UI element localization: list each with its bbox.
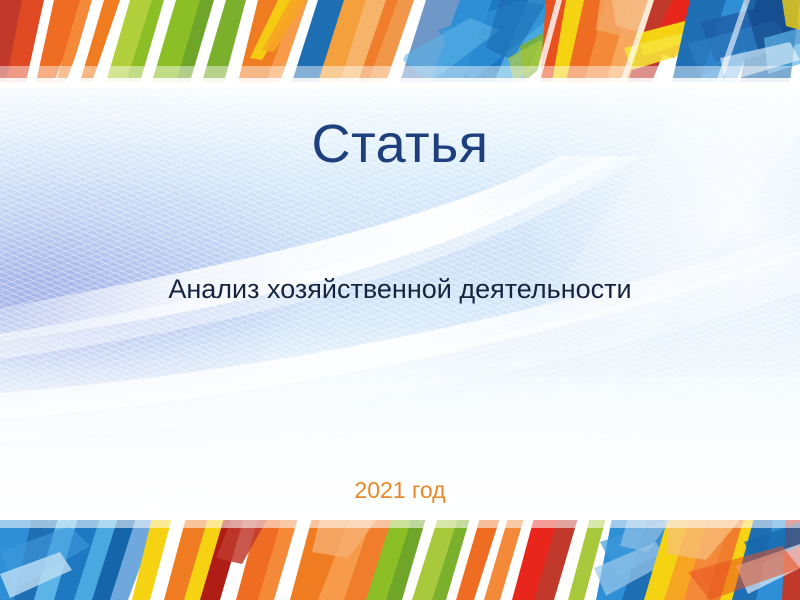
slide-subtitle: Анализ хозяйственной деятельности [0,272,800,306]
bottom-shard-graphic [0,512,800,600]
top-decorative-border [0,0,800,88]
slide-year: 2021 год [0,476,800,504]
bottom-decorative-border [0,512,800,600]
top-shard-graphic [0,0,800,88]
presentation-slide: Статья Анализ хозяйственной деятельности… [0,0,800,600]
slide-title: Статья [0,112,800,176]
